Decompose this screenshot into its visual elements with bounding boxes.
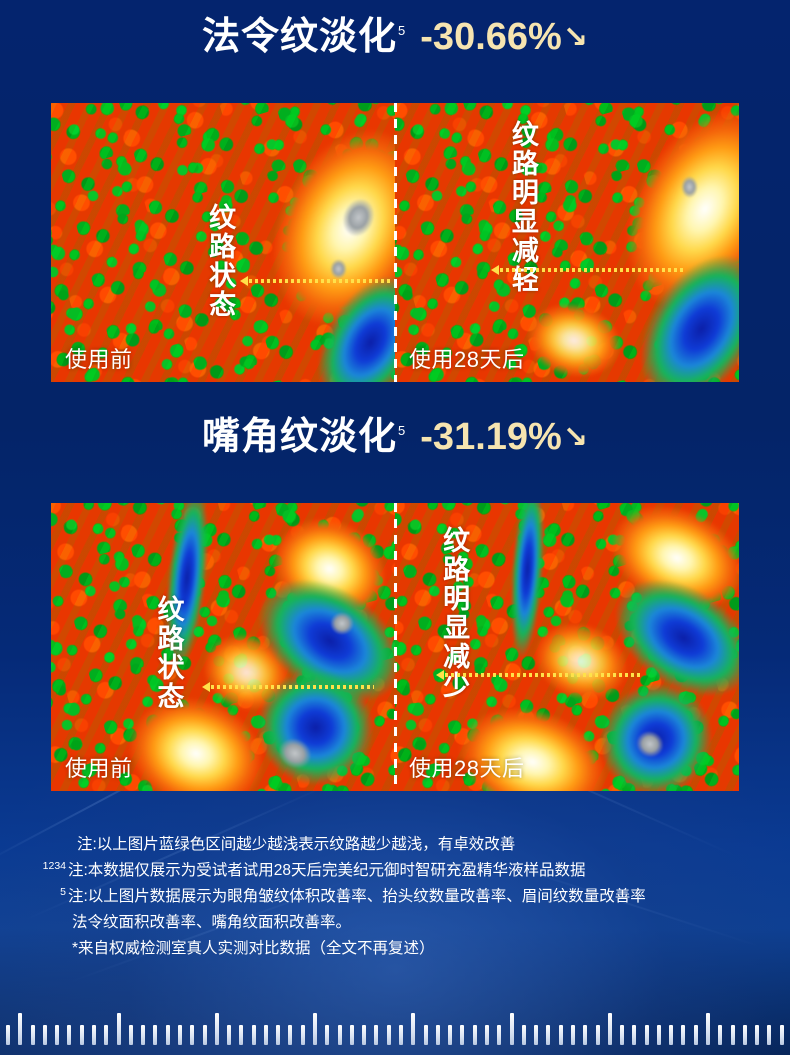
footnote-2-text: 注:本数据仅展示为受试者试用28天后完美纪元御时智研充盈精华液样品数据 xyxy=(68,858,586,884)
ruler-tick-minor xyxy=(55,1025,59,1045)
ruler-tick-minor xyxy=(325,1025,329,1045)
ruler-tick-minor xyxy=(350,1025,354,1045)
ruler-tick-minor xyxy=(534,1025,538,1045)
footnote-3-superscript: 5 xyxy=(58,887,66,898)
ruler-tick-minor xyxy=(436,1025,440,1045)
footnote-1-text: 注:以上图片蓝绿色区间越少越浅表示纹路越少越浅，有卓效改善 xyxy=(77,832,515,858)
ruler-tick-minor xyxy=(460,1025,464,1045)
section-1-after-corner-label: 使用28天后 xyxy=(409,342,524,374)
ruler-tick-minor xyxy=(694,1025,698,1045)
page-root: 法令纹淡化 5 -30.66% ↘ 纹路状态 使用前 纹路明显减轻 使用28天后 xyxy=(0,0,790,1055)
section-1-before-corner-label: 使用前 xyxy=(65,342,133,374)
ruler-tick-minor xyxy=(67,1025,71,1045)
section-2-after-corner-label: 使用28天后 xyxy=(409,751,524,783)
ruler-tick-minor xyxy=(80,1025,84,1045)
down-right-arrow-icon: ↘ xyxy=(563,20,588,55)
section-2-before-panel: 纹路状态 使用前 xyxy=(51,503,395,791)
thermal-grey-region xyxy=(330,612,354,635)
dotted-measure-arrow-left-icon xyxy=(202,682,374,692)
ruler-tick-minor xyxy=(288,1025,292,1045)
ruler-ticks xyxy=(0,1009,790,1045)
footnote-line-3: 5 注:以上图片数据展示为眼角皱纹体积改善率、抬头纹数量改善率、眉间纹数量改善率 xyxy=(0,884,790,910)
ruler-tick-minor xyxy=(301,1025,305,1045)
ruler-tick-minor xyxy=(338,1025,342,1045)
ruler-tick-minor xyxy=(596,1025,600,1045)
section-1-comparison-image: 纹路状态 使用前 纹路明显减轻 使用28天后 xyxy=(51,103,739,382)
ruler-tick-minor xyxy=(657,1025,661,1045)
panel-divider xyxy=(394,503,397,791)
ruler-tick-minor xyxy=(424,1025,428,1045)
ruler-tick-minor xyxy=(497,1025,501,1045)
ruler-tick-minor xyxy=(681,1025,685,1045)
ruler-tick-minor xyxy=(276,1025,280,1045)
ruler-tick-minor xyxy=(6,1025,10,1045)
ruler-tick-minor xyxy=(141,1025,145,1045)
section-2-comparison-image: 纹路状态 使用前 纹路明显减少 使用28天后 xyxy=(51,503,739,791)
ruler-tick-minor xyxy=(767,1025,771,1045)
ruler-tick-minor xyxy=(473,1025,477,1045)
ruler-tick-major xyxy=(117,1013,121,1045)
ruler-tick-minor xyxy=(743,1025,747,1045)
ruler-tick-minor xyxy=(780,1025,784,1045)
footnote-4-text: 法令纹面积改善率、嘴角纹面积改善率。 xyxy=(72,910,351,936)
dotted-measure-arrow-left-icon xyxy=(436,670,642,680)
ruler-tick-major xyxy=(215,1013,219,1045)
ruler-tick-minor xyxy=(31,1025,35,1045)
section-2-percent: -31.19% xyxy=(420,418,562,456)
ruler-tick-major xyxy=(18,1013,22,1045)
ruler-tick-minor xyxy=(178,1025,182,1045)
ruler-tick-major xyxy=(608,1013,612,1045)
ruler-tick-major xyxy=(706,1013,710,1045)
ruler-tick-minor xyxy=(190,1025,194,1045)
ruler-tick-minor xyxy=(448,1025,452,1045)
ruler-tick-minor xyxy=(129,1025,133,1045)
footnote-line-5: *来自权威检测室真人实测对比数据（全文不再复述） xyxy=(0,936,790,962)
ruler-tick-minor xyxy=(522,1025,526,1045)
ruler-tick-minor xyxy=(264,1025,268,1045)
footnote-5-text: *来自权威检测室真人实测对比数据（全文不再复述） xyxy=(72,936,435,962)
ruler-tick-minor xyxy=(252,1025,256,1045)
ruler-tick-minor xyxy=(669,1025,673,1045)
section-2-title-row: 嘴角纹淡化 5 -31.19% ↘ xyxy=(0,418,790,457)
footnote-line-4: 法令纹面积改善率、嘴角纹面积改善率。 xyxy=(0,910,790,936)
ruler-tick-minor xyxy=(362,1025,366,1045)
ruler-tick-minor xyxy=(559,1025,563,1045)
ruler-tick-minor xyxy=(755,1025,759,1045)
section-1-title: 法令纹淡化 xyxy=(202,18,397,56)
section-2-title: 嘴角纹淡化 xyxy=(202,418,397,456)
ruler-tick-minor xyxy=(399,1025,403,1045)
ruler-tick-minor xyxy=(485,1025,489,1045)
dotted-measure-arrow-left-icon xyxy=(240,276,391,286)
ruler-tick-major xyxy=(510,1013,514,1045)
ruler-tick-minor xyxy=(620,1025,624,1045)
dotted-measure-arrow-left-icon xyxy=(491,265,684,275)
ruler-tick-minor xyxy=(731,1025,735,1045)
ruler-tick-minor xyxy=(104,1025,108,1045)
section-1-percent: -30.66% xyxy=(420,18,562,56)
down-right-arrow-icon: ↘ xyxy=(563,420,588,455)
ruler-tick-minor xyxy=(43,1025,47,1045)
section-2-before-vertical-label: 纹路状态 xyxy=(154,595,182,711)
ruler-tick-minor xyxy=(583,1025,587,1045)
measurement-ruler xyxy=(0,997,790,1055)
ruler-tick-major xyxy=(411,1013,415,1045)
footnote-3-text: 注:以上图片数据展示为眼角皱纹体积改善率、抬头纹数量改善率、眉间纹数量改善率 xyxy=(68,884,646,910)
section-2-after-panel: 纹路明显减少 使用28天后 xyxy=(395,503,739,791)
ruler-tick-major xyxy=(313,1013,317,1045)
footnote-line-2: 1234 注:本数据仅展示为受试者试用28天后完美纪元御时智研充盈精华液样品数据 xyxy=(0,858,790,884)
ruler-tick-minor xyxy=(153,1025,157,1045)
panel-divider xyxy=(394,103,397,382)
ruler-tick-minor xyxy=(571,1025,575,1045)
ruler-tick-minor xyxy=(387,1025,391,1045)
footnotes-block: 注:以上图片蓝绿色区间越少越浅表示纹路越少越浅，有卓效改善 1234 注:本数据… xyxy=(0,832,790,962)
ruler-tick-minor xyxy=(374,1025,378,1045)
section-2-title-superscript: 5 xyxy=(398,423,405,438)
section-1-before-vertical-label: 纹路状态 xyxy=(206,203,234,319)
thermal-grey-region xyxy=(681,176,698,198)
footnote-line-1: 注:以上图片蓝绿色区间越少越浅表示纹路越少越浅，有卓效改善 xyxy=(0,832,790,858)
ruler-tick-minor xyxy=(645,1025,649,1045)
section-1-title-superscript: 5 xyxy=(398,23,405,38)
ruler-tick-minor xyxy=(632,1025,636,1045)
ruler-tick-minor xyxy=(166,1025,170,1045)
ruler-tick-minor xyxy=(203,1025,207,1045)
ruler-tick-minor xyxy=(546,1025,550,1045)
section-1-before-panel: 纹路状态 使用前 xyxy=(51,103,395,382)
ruler-tick-minor xyxy=(227,1025,231,1045)
ruler-tick-minor xyxy=(718,1025,722,1045)
footnote-2-superscript: 1234 xyxy=(38,861,66,872)
section-1-after-panel: 纹路明显减轻 使用28天后 xyxy=(395,103,739,382)
section-1-title-row: 法令纹淡化 5 -30.66% ↘ xyxy=(0,18,790,57)
ruler-tick-minor xyxy=(92,1025,96,1045)
section-2-before-corner-label: 使用前 xyxy=(65,751,133,783)
ruler-tick-minor xyxy=(239,1025,243,1045)
